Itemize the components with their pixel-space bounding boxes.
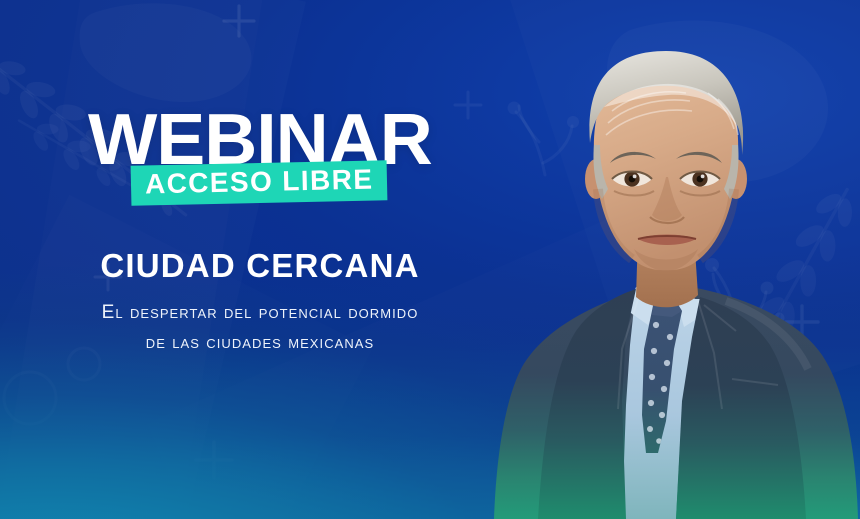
- jacket-left-lapel: [538, 289, 636, 519]
- acceso-libre-band: ACCESO LIBRE: [131, 160, 388, 206]
- acceso-libre-badge: ACCESO LIBRE: [131, 160, 388, 206]
- topic-subtitle-line-2: de las ciudades mexicanas: [0, 328, 520, 358]
- speaker-portrait-illustration: [486, 49, 860, 519]
- acceso-libre-label: ACCESO LIBRE: [145, 166, 374, 199]
- topic-subtitle: El despertar del potencial dormido de la…: [0, 298, 520, 358]
- suit: [494, 285, 858, 519]
- text-content: WEBINAR ACCESO LIBRE CIUDAD CERCANA El d…: [0, 0, 520, 519]
- topic-title: CIUDAD CERCANA: [0, 249, 520, 282]
- speaker-portrait: [486, 49, 860, 519]
- topic-subtitle-line-1: El despertar del potencial dormido: [102, 302, 419, 323]
- webinar-banner: WEBINAR ACCESO LIBRE CIUDAD CERCANA El d…: [0, 0, 860, 519]
- head: [589, 51, 743, 271]
